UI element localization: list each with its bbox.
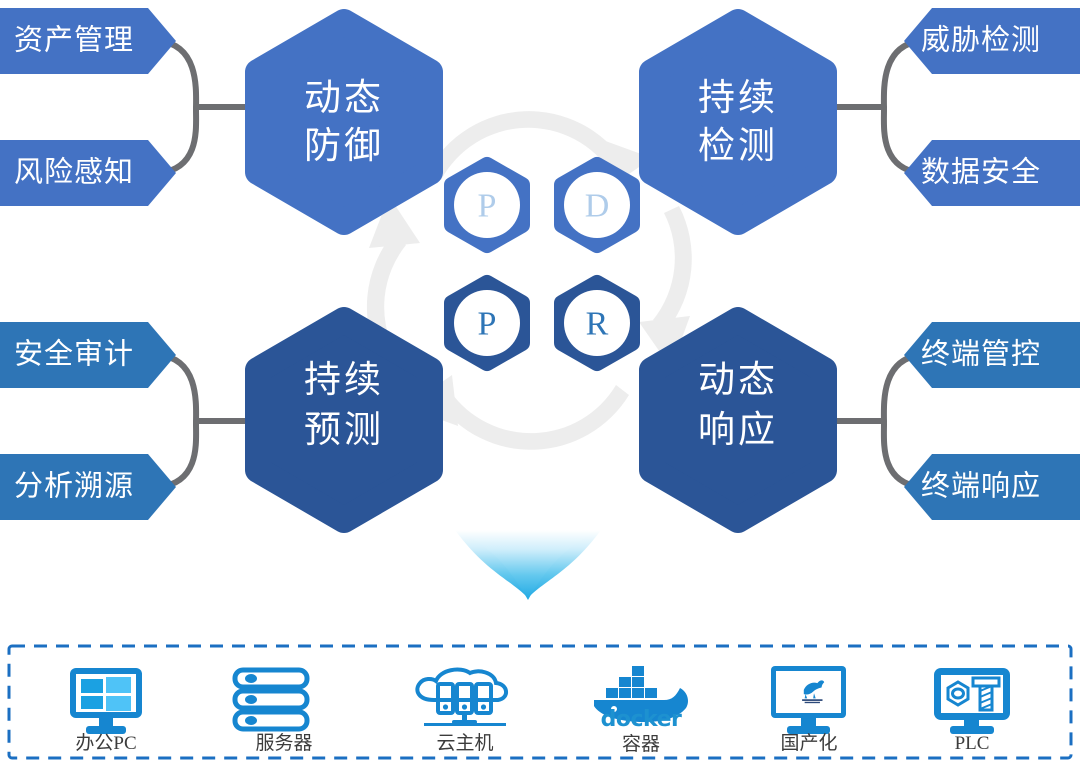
quadrant-continuous-predict-line2: 预测	[304, 410, 384, 451]
server-stack-icon	[235, 670, 307, 729]
device-localized[interactable]: 国产化	[771, 666, 846, 754]
connector-right-top	[830, 41, 920, 173]
tag-left-top-1[interactable]: 风险感知	[0, 140, 176, 206]
tag-right-top-1-label: 数据安全	[921, 156, 1041, 189]
device-plc[interactable]: PLC	[934, 668, 1010, 754]
quadrant-dynamic-defense-line1: 动态	[304, 77, 384, 119]
windows-monitor-icon	[70, 668, 142, 734]
tag-left-bottom-1-label: 分析溯源	[14, 470, 134, 503]
kylin-monitor-icon	[771, 666, 846, 734]
quadrant-continuous-detect[interactable]: 持续 检测	[652, 22, 824, 222]
cycle-node-p2-letter: P	[478, 306, 497, 343]
device-panel-border	[9, 646, 1071, 758]
quadrant-dynamic-response-line1: 动态	[698, 359, 778, 401]
docker-wordmark: docker	[601, 707, 682, 732]
device-cloud-host[interactable]: 云主机	[417, 670, 506, 754]
device-container[interactable]: docker 容器	[594, 666, 688, 755]
quadrant-continuous-predict[interactable]: 持续 预测	[258, 320, 430, 520]
tag-left-top-0[interactable]: 资产管理	[0, 8, 176, 74]
plc-monitor-icon	[934, 668, 1010, 734]
device-server-label: 服务器	[255, 732, 312, 754]
cycle-node-p1-letter: P	[478, 188, 497, 225]
device-container-label: 容器	[622, 733, 660, 755]
device-office-pc[interactable]: 办公PC	[70, 668, 142, 754]
tag-right-top-1[interactable]: 数据安全	[904, 140, 1080, 206]
device-server[interactable]: 服务器	[235, 670, 313, 754]
cycle-node-d-letter: D	[585, 188, 610, 225]
tag-left-bottom-1[interactable]: 分析溯源	[0, 454, 176, 520]
connector-left-top	[160, 41, 250, 173]
tag-left-bottom-0-label: 安全审计	[14, 338, 134, 371]
tag-right-top-0-label: 威胁检测	[921, 24, 1041, 57]
quadrant-dynamic-defense-line2: 防御	[304, 125, 384, 167]
tag-left-bottom-0[interactable]: 安全审计	[0, 322, 176, 388]
tag-right-bottom-0-label: 终端管控	[921, 338, 1041, 371]
tag-left-top-0-label: 资产管理	[14, 24, 134, 57]
tag-right-bottom-0[interactable]: 终端管控	[904, 322, 1080, 388]
quadrant-dynamic-response-line2: 响应	[698, 409, 778, 451]
tag-right-bottom-1-label: 终端响应	[921, 470, 1041, 503]
tag-right-top-0[interactable]: 威胁检测	[904, 8, 1080, 74]
device-plc-label: PLC	[955, 733, 990, 754]
quadrant-dynamic-response[interactable]: 动态 响应	[652, 320, 824, 520]
quadrant-continuous-detect-line2: 检测	[698, 125, 778, 167]
cloud-server-icon	[417, 670, 506, 726]
device-office-pc-label: 办公PC	[75, 732, 136, 754]
quadrant-continuous-predict-line1: 持续	[304, 360, 384, 401]
cycle-node-r-letter: R	[586, 306, 609, 343]
device-cloud-host-label: 云主机	[436, 732, 493, 754]
connector-left-bottom	[160, 355, 250, 487]
down-arrow	[455, 530, 601, 600]
quadrant-dynamic-defense[interactable]: 动态 防御	[258, 22, 430, 222]
tag-left-top-1-label: 风险感知	[14, 156, 134, 189]
cycle-node-p1[interactable]: P	[452, 165, 522, 245]
connector-right-bottom	[830, 355, 920, 487]
cycle-node-d[interactable]: D	[562, 165, 632, 245]
device-localized-label: 国产化	[780, 732, 837, 754]
quadrant-continuous-detect-line1: 持续	[698, 78, 778, 119]
cycle-node-p2[interactable]: P	[452, 283, 522, 363]
cycle-node-r[interactable]: R	[562, 283, 632, 363]
tag-right-bottom-1[interactable]: 终端响应	[904, 454, 1080, 520]
diagram-canvas: 资产管理 风险感知 安全审计 分析溯源 威胁检测 数据安全 终端管控 终端响应 …	[0, 0, 1080, 765]
diagram-svg: 资产管理 风险感知 安全审计 分析溯源 威胁检测 数据安全 终端管控 终端响应 …	[0, 0, 1080, 765]
